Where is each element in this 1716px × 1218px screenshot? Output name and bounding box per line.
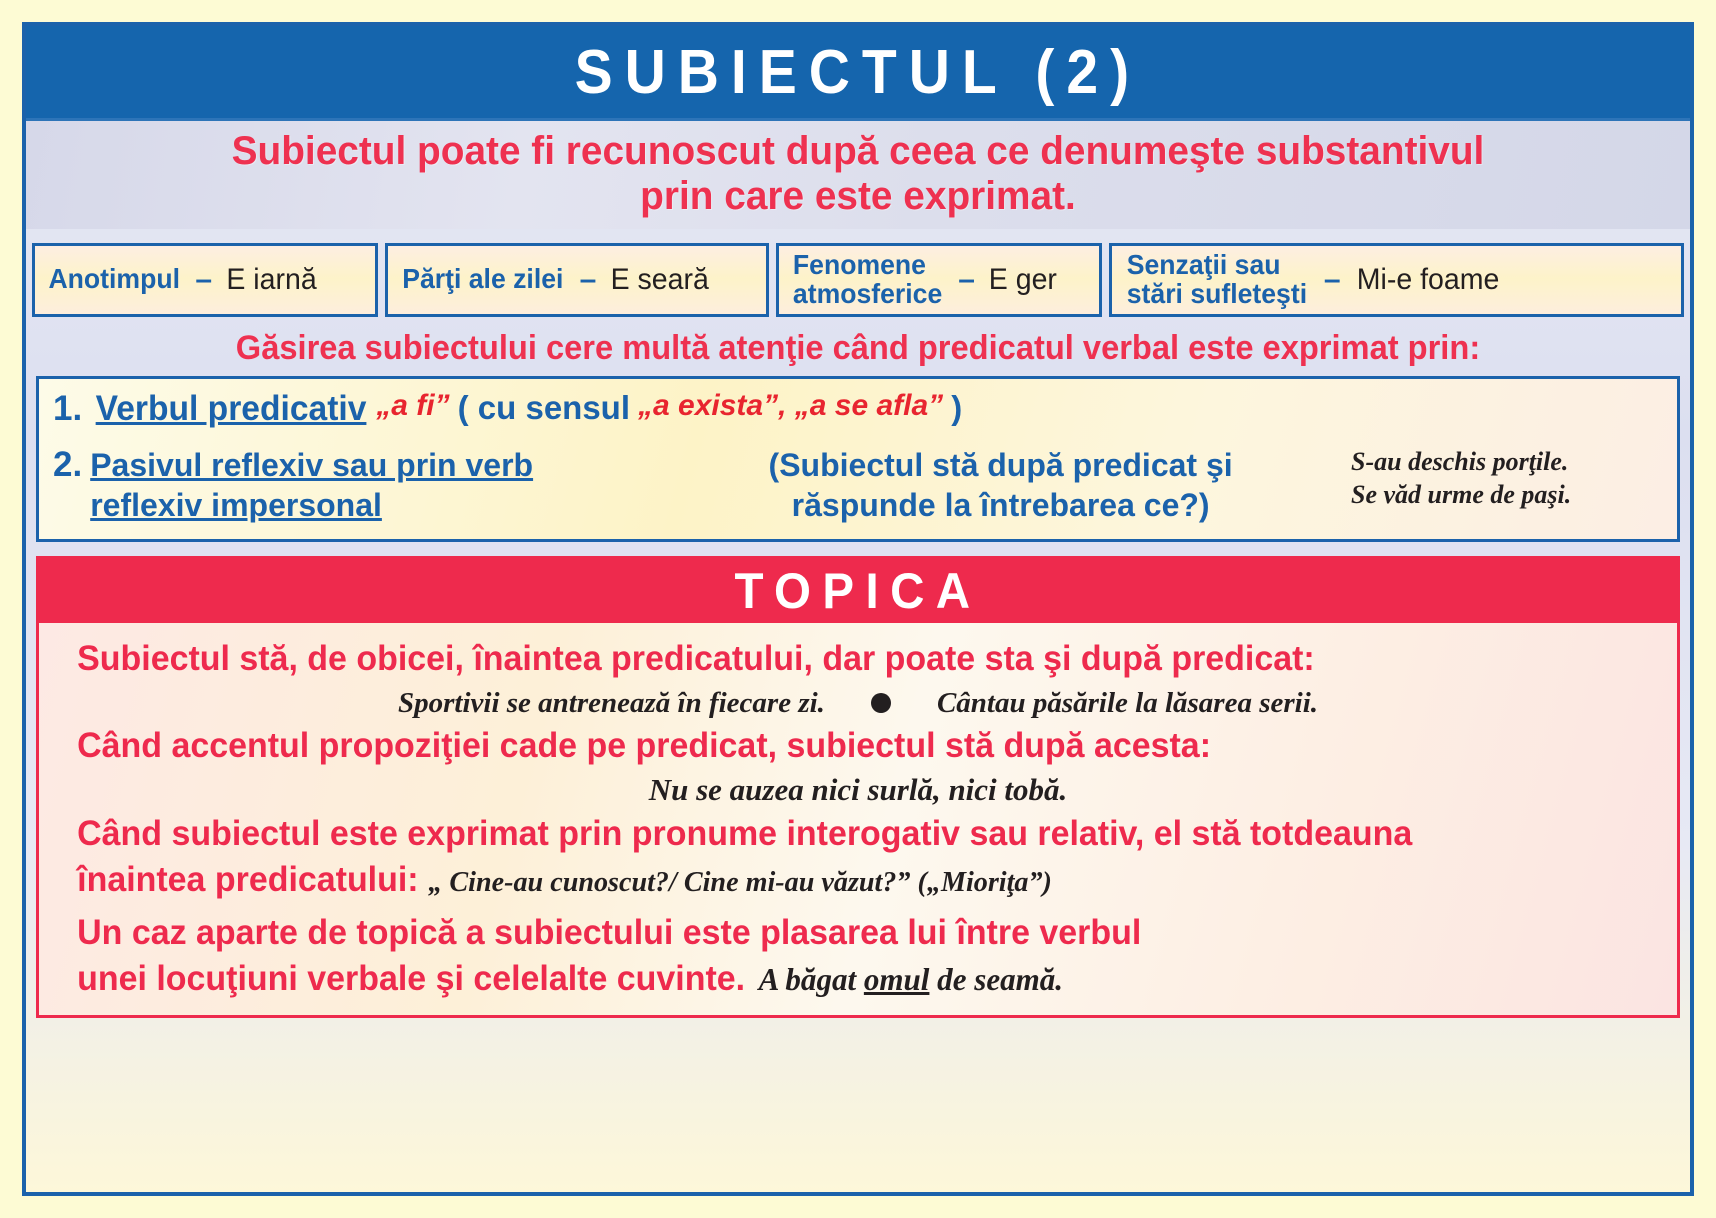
topica-example-1b: Cântau păsările la lăsarea serii. xyxy=(937,687,1318,720)
list-item-term-line-2: reflexiv impersonal xyxy=(90,485,382,525)
topica-example-row-1: Sportivii se antrenează în fiecare zi. C… xyxy=(53,687,1663,720)
list-item-close-paren: ) xyxy=(951,389,962,427)
example-line-2: Se văd urme de paşi. xyxy=(1351,478,1663,512)
topica-rule-3-line-2: înaintea predicatului: „ Cine-au cunoscu… xyxy=(77,860,1639,900)
poster-page: SUBIECTUL (2) Subiectul poate fi recunos… xyxy=(22,22,1694,1196)
title-bar: SUBIECTUL (2) xyxy=(26,26,1690,121)
bullet-icon xyxy=(871,693,891,713)
dash-separator: – xyxy=(958,263,975,297)
topica-rule-4-label: unei locuţiuni verbale şi celelalte cuvi… xyxy=(77,959,745,999)
topica-banner: TOPICA xyxy=(39,559,1677,623)
category-label: Fenomene atmosferice xyxy=(793,251,942,308)
list-item-1: 1. Verbul predicativ „a fi” ( cu sensul … xyxy=(53,389,1663,429)
predicate-list-box: 1. Verbul predicativ „a fi” ( cu sensul … xyxy=(36,376,1680,542)
example-line-1: S-au deschis porţile. xyxy=(1351,445,1663,479)
dash-separator: – xyxy=(1324,263,1341,297)
category-box-parti-ale-zilei: Părţi ale zilei – E seară xyxy=(385,243,769,317)
dash-separator: – xyxy=(195,263,212,297)
category-example: Mi-e foame xyxy=(1356,263,1499,297)
list-item-parenthetical: (Subiectul stă după predicat şi răspunde… xyxy=(650,445,1351,525)
dash-separator: – xyxy=(580,263,597,297)
topica-rule-4-line-1: Un caz aparte de topică a subiectului es… xyxy=(77,913,1639,953)
intro-line-1: Subiectul poate fi recunoscut după ceea … xyxy=(66,129,1649,174)
example-4-underlined: omul xyxy=(864,961,930,997)
example-4-pre: A băgat xyxy=(759,961,864,997)
category-example: E ger xyxy=(989,263,1057,297)
topica-rule-4-line-2: unei locuţiuni verbale şi celelalte cuvi… xyxy=(77,959,1639,999)
list-item-term-column: Pasivul reflexiv sau prin verb reflexiv … xyxy=(90,445,650,525)
category-label: Părţi ale zilei xyxy=(402,265,563,294)
list-item-number: 2. xyxy=(53,445,82,485)
list-item-quote-2: „a exista”, „a se afla” xyxy=(638,389,943,423)
category-label: Senzaţii sau stări sufleteşti xyxy=(1127,251,1307,308)
topica-example-4: A băgat omul de seamă. xyxy=(759,961,1063,998)
topica-rule-3-label: înaintea predicatului: xyxy=(77,860,418,900)
list-item-quote-1: „a fi” xyxy=(376,389,449,423)
topica-example-1a: Sportivii se antrenează în fiecare zi. xyxy=(398,687,825,720)
topica-rule-3-line-1: Când subiectul este exprimat prin pronum… xyxy=(77,814,1639,854)
list-item-2: 2. Pasivul reflexiv sau prin verb reflex… xyxy=(53,445,1663,525)
category-example: E iarnă xyxy=(226,263,316,297)
parenthetical-line-1: (Subiectul stă după predicat şi xyxy=(650,445,1351,485)
topica-body: Subiectul stă, de obicei, înaintea predi… xyxy=(39,623,1677,1016)
category-label: Anotimpul xyxy=(48,265,180,294)
category-example: E seară xyxy=(611,263,709,297)
category-box-senzatii: Senzaţii sau stări sufleteşti – Mi-e foa… xyxy=(1109,243,1684,317)
topica-example-2: Nu se auzea nici surlă, nici tobă. xyxy=(53,772,1663,808)
category-boxes: Anotimpul – E iarnă Părţi ale zilei – E … xyxy=(32,243,1684,317)
topica-section: TOPICA Subiectul stă, de obicei, înainte… xyxy=(36,556,1680,1019)
category-box-anotimpul: Anotimpul – E iarnă xyxy=(32,243,378,317)
list-item-mid: ( cu sensul xyxy=(458,389,630,427)
list-item-examples: S-au deschis porţile. Se văd urme de paş… xyxy=(1351,445,1663,513)
topica-banner-label: TOPICA xyxy=(735,562,982,620)
list-item-term: Verbul predicativ xyxy=(96,389,367,429)
topica-rule-2: Când accentul propoziţiei cade pe predic… xyxy=(77,726,1639,766)
example-4-post: de seamă. xyxy=(929,961,1063,997)
topica-example-3: „ Cine-au cunoscut?/ Cine mi-au văzut?” … xyxy=(428,866,1052,899)
list-item-number: 1. xyxy=(53,389,82,429)
category-box-fenomene-atmosferice: Fenomene atmosferice – E ger xyxy=(776,243,1102,317)
parenthetical-line-2: răspunde la întrebarea ce?) xyxy=(650,485,1351,525)
page-title: SUBIECTUL (2) xyxy=(575,37,1141,108)
lead-line: Găsirea subiectului cere multă atenţie c… xyxy=(59,329,1656,368)
list-item-term-line-1: Pasivul reflexiv sau prin verb xyxy=(90,445,533,485)
intro-line-2: prin care este exprimat. xyxy=(66,174,1649,219)
topica-rule-1: Subiectul stă, de obicei, înaintea predi… xyxy=(77,639,1639,679)
intro-section: Subiectul poate fi recunoscut după ceea … xyxy=(26,121,1690,229)
